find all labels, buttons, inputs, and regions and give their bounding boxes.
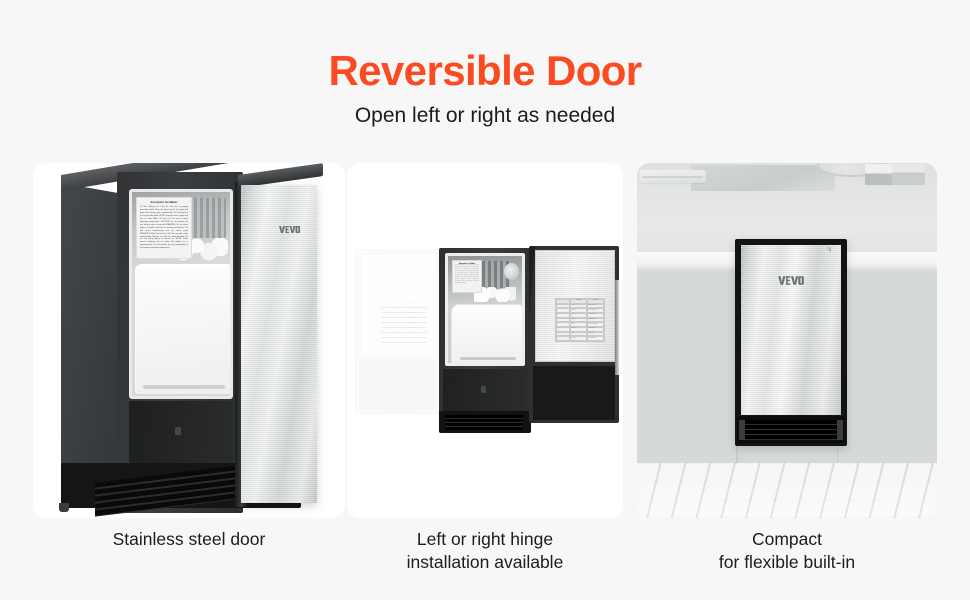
troubleshooting-sticker: ProblemSolution1No iceCheck power2Thin i…: [555, 298, 605, 342]
label-body: To Start Making Ice: Plug the unit into …: [455, 265, 479, 285]
page-title: Reversible Door: [0, 48, 970, 94]
label-body: To Start Making Ice: Plug the unit into …: [140, 206, 188, 250]
opened-door-right-hinge: ProblemSolution1No iceCheck power2Thin i…: [529, 246, 619, 423]
grille-left-bracket: [739, 420, 745, 440]
ventilation-grille: [445, 415, 523, 430]
stainless-steel-door: [741, 245, 841, 415]
interior-cavity: Automatic Ice Maker To Start Making Ice:…: [445, 253, 525, 366]
lower-front-panel: [443, 369, 527, 411]
feature-panel-builtin: [637, 163, 937, 518]
feature-panel-stainless-door: Automatic Ice Maker To Start Making Ice:…: [33, 163, 345, 518]
promo-graphic: Reversible Door Open left or right as ne…: [0, 0, 970, 600]
interior-instruction-label: Automatic Ice Maker To Start Making Ice:…: [136, 197, 192, 259]
sticker-cell: Reset switch: [587, 336, 604, 341]
kitchen-scene-image: [637, 163, 937, 518]
feature-panel-hinge-options: 1No iceCheck power2Thin iceCheck water l…: [347, 163, 623, 518]
ghost-sticker-cell: Off cycle: [392, 338, 410, 343]
caption-line-1: Compact: [637, 528, 937, 551]
counter-jars: [865, 164, 925, 185]
panel-caption-1: Stainless steel door: [33, 528, 345, 551]
counter-tray: [640, 170, 706, 183]
product-image-front-reversible: 1No iceCheck power2Thin iceCheck water l…: [347, 163, 623, 518]
sticker-cell: Off cycle: [570, 336, 587, 341]
door-outer-edge: [615, 280, 619, 375]
panel-caption-3: Compact for flexible built-in: [637, 528, 937, 575]
ghost-sticker-cell: 8: [381, 338, 392, 343]
ventilation-grille: [737, 416, 845, 443]
caption-line-2: for flexible built-in: [637, 551, 937, 574]
interior-cavity: Automatic Ice Maker To Start Making Ice:…: [129, 189, 233, 399]
cabinet-side-panel: [61, 183, 118, 511]
ghost-reversed-door-overlay: 1No iceCheck power2Thin iceCheck water l…: [355, 249, 441, 414]
grille-right-bracket: [837, 420, 843, 440]
label-title: Automatic Ice Maker: [140, 201, 188, 204]
leveling-foot: [59, 503, 69, 512]
lower-front-panel: [129, 401, 233, 463]
sticker-cell: 8: [556, 336, 570, 341]
panel-caption-2: Left or right hinge installation availab…: [347, 528, 623, 575]
ghost-door-lower: [359, 361, 437, 410]
product-image-angled-open-door: Automatic Ice Maker To Start Making Ice:…: [33, 163, 345, 518]
ghost-door-sticker: 1No iceCheck power2Thin iceCheck water l…: [381, 303, 427, 343]
caption-line-2: installation available: [347, 551, 623, 574]
door-lower-section: [533, 366, 615, 420]
ice-storage-bin: [451, 304, 525, 364]
kitchen-floor: [637, 463, 937, 518]
cooktop: [691, 165, 835, 191]
vevor-logo-icon: [778, 273, 804, 284]
page-subtitle: Open left or right as needed: [0, 104, 970, 128]
caption-line-1: Left or right hinge: [347, 528, 623, 551]
water-distributor-icon: [504, 263, 519, 280]
ice-storage-bin: [135, 264, 233, 394]
ghost-sticker-cell: Reset switch: [410, 338, 428, 343]
interior-instruction-label: Automatic Ice Maker To Start Making Ice:…: [452, 260, 482, 293]
vevor-logo-icon: [279, 225, 300, 234]
